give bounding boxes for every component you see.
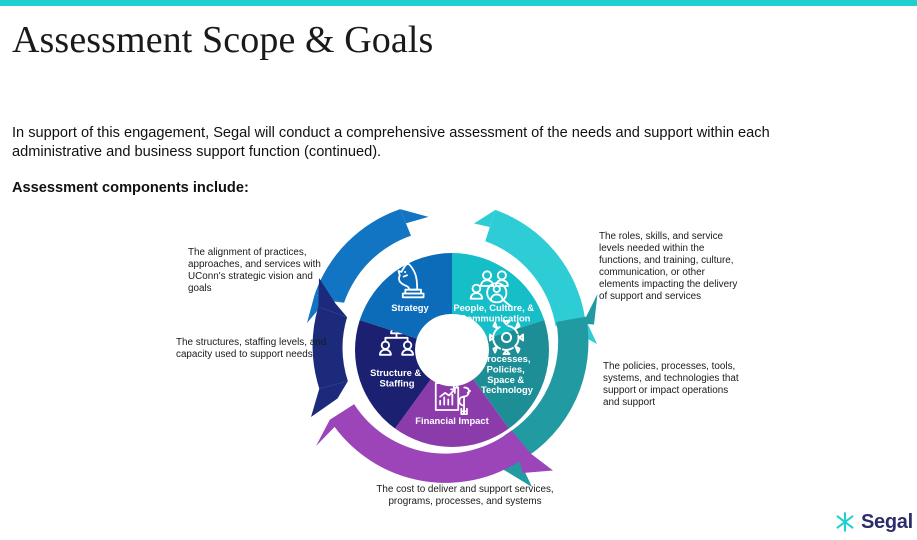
intro-paragraph: In support of this engagement, Segal wil… bbox=[12, 124, 857, 162]
components-heading: Assessment components include: bbox=[12, 180, 249, 196]
callout-strategy: The alignment of practices, approaches, … bbox=[188, 247, 338, 295]
top-accent-bar bbox=[0, 0, 917, 6]
callout-processes: The policies, processes, tools, systems,… bbox=[603, 361, 745, 409]
wheel-segments: People, Culture, & Communication Process… bbox=[355, 253, 549, 447]
assessment-components-wheel: People, Culture, & Communication Process… bbox=[306, 198, 598, 490]
callout-financial: The cost to deliver and support services… bbox=[361, 484, 569, 508]
segal-logo-wordmark: Segal bbox=[861, 512, 913, 532]
wheel-segment-label: Processes, Policies, Space & Technology bbox=[481, 353, 534, 395]
wheel-segment-label: People, Culture, & Communication bbox=[453, 302, 536, 323]
callout-people: The roles, skills, and service levels ne… bbox=[599, 231, 747, 304]
callout-structure: The structures, staffing levels, and cap… bbox=[176, 337, 328, 361]
segal-logo: Segal bbox=[833, 510, 913, 534]
wheel-segment-label: Strategy bbox=[391, 302, 429, 313]
wheel-segment-label: Financial Impact bbox=[415, 415, 488, 426]
segal-star-icon bbox=[833, 510, 857, 534]
page-title: Assessment Scope & Goals bbox=[12, 18, 433, 62]
